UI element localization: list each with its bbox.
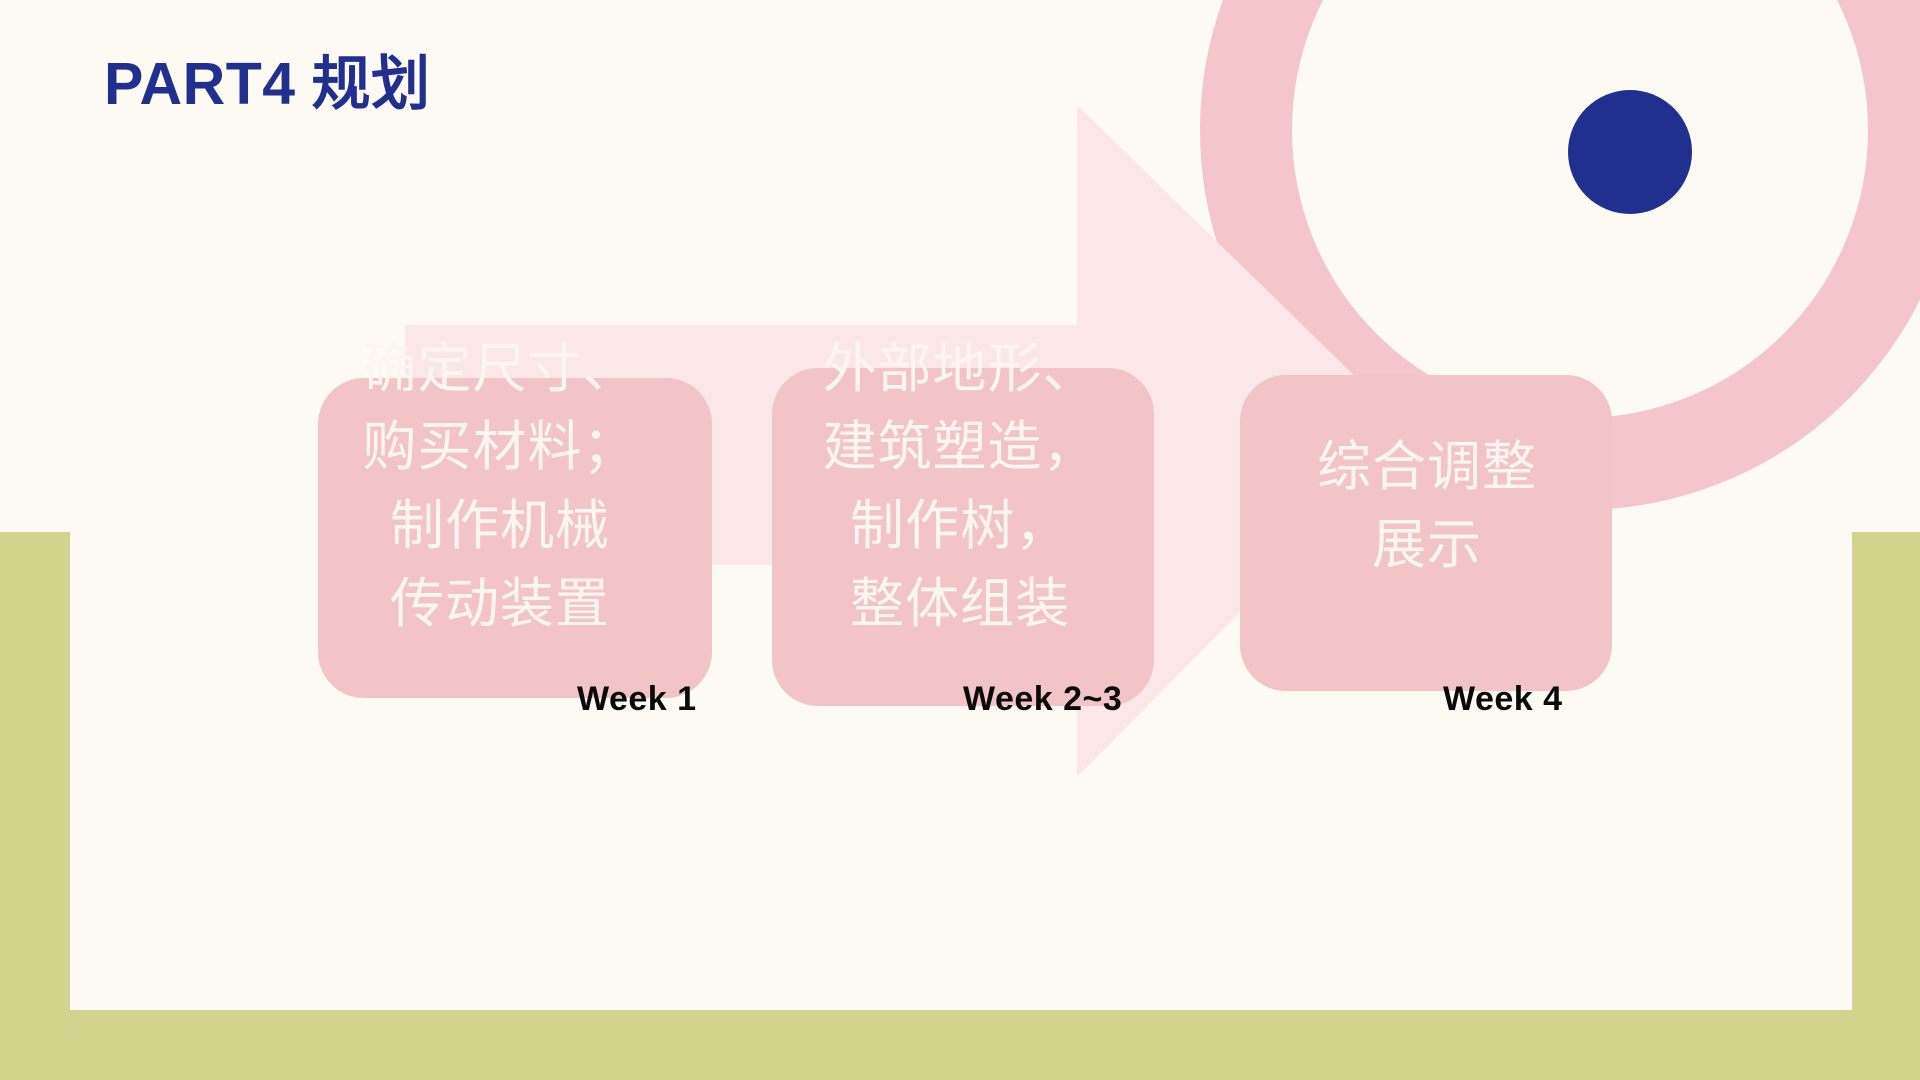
timeline-card-2-week-label: Week 2~3: [963, 680, 1122, 719]
timeline-card-1-week-label: Week 1: [577, 680, 697, 719]
olive-band-left: [0, 532, 70, 1080]
presentation-slide: PART4规划 确定尺寸、 购买材料； 制作机械 传动装置 外部地形、 建筑塑造…: [0, 0, 1920, 1080]
timeline-card-3[interactable]: [1240, 375, 1612, 691]
navy-circle-icon: [1568, 90, 1692, 214]
timeline-card-3-week-label: Week 4: [1443, 680, 1563, 719]
page-title: PART4规划: [104, 36, 431, 121]
timeline-card-1[interactable]: [318, 378, 712, 698]
timeline-card-2[interactable]: [772, 368, 1154, 706]
title-chinese: 规划: [312, 51, 431, 117]
title-part-number: PART4: [104, 51, 296, 117]
olive-band-right: [1852, 532, 1920, 1080]
olive-band-bottom: [0, 1010, 1920, 1080]
